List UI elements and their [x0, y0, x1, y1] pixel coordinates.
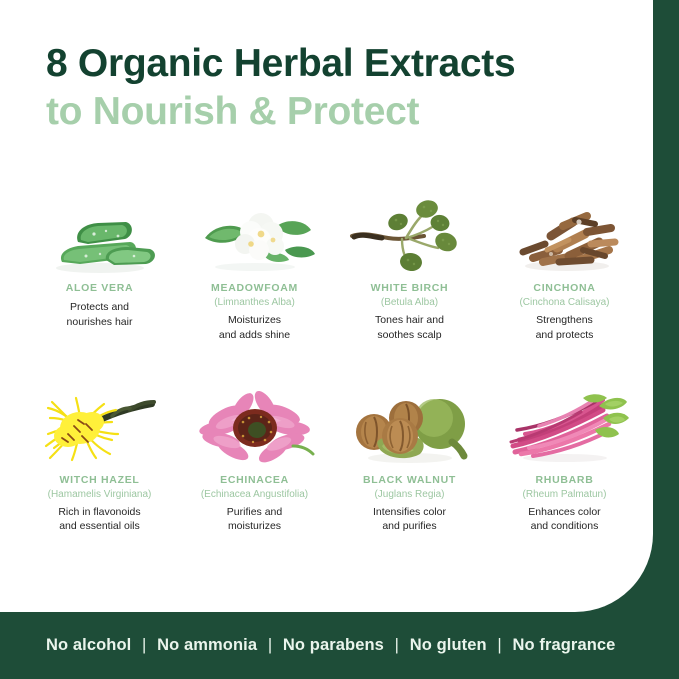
- extract-card-cinchona: CINCHONA (Cinchona Calisaya) Strengthens…: [487, 192, 642, 342]
- rhubarb-image: [499, 384, 631, 468]
- extract-name: MEADOWFOAM: [211, 282, 298, 295]
- aloe-vera-image: [34, 192, 166, 276]
- extract-latin-name: (Betula Alba): [381, 296, 438, 309]
- extract-name: CINCHONA: [533, 282, 595, 295]
- claim-no-fragrance: No fragrance: [512, 636, 615, 654]
- white-birch-image: [344, 192, 476, 276]
- extract-description: Rich in flavonoids and essential oils: [58, 505, 140, 533]
- extract-description: Enhances color and conditions: [528, 505, 600, 533]
- cinchona-image: [499, 192, 631, 276]
- extract-description: Protects and nourishes hair: [67, 300, 133, 328]
- extract-latin-name: (Limnanthes Alba): [214, 296, 295, 309]
- extract-description: Purifies and moisturizes: [227, 505, 282, 533]
- extract-name: WHITE BIRCH: [371, 282, 449, 295]
- claims-list: No alcohol | No ammonia | No parabens | …: [46, 636, 615, 655]
- extract-card-meadowfoam: MEADOWFOAM (Limnanthes Alba) Moisturizes…: [177, 192, 332, 342]
- claim-no-alcohol: No alcohol: [46, 636, 131, 654]
- extract-latin-name: (Echinacea Angustifolia): [201, 488, 308, 501]
- black-walnut-image: [344, 384, 476, 468]
- extract-name: RHUBARB: [536, 474, 594, 487]
- claim-separator: |: [491, 636, 507, 654]
- extract-description: Moisturizes and adds shine: [219, 313, 290, 341]
- extract-latin-name: (Rheum Palmatun): [523, 488, 607, 501]
- claim-no-ammonia: No ammonia: [157, 636, 257, 654]
- title-line-2: to Nourish & Protect: [46, 92, 626, 132]
- extract-card-aloe-vera: ALOE VERA Protects and nourishes hair: [22, 192, 177, 342]
- meadowfoam-image: [189, 192, 321, 276]
- extract-card-rhubarb: RHUBARB (Rheum Palmatun) Enhances color …: [487, 384, 642, 534]
- extract-name: ALOE VERA: [66, 282, 134, 295]
- herbal-extracts-infographic: 8 Organic Herbal Extracts to Nourish & P…: [0, 0, 679, 679]
- claim-no-parabens: No parabens: [283, 636, 384, 654]
- witch-hazel-image: [34, 384, 166, 468]
- claim-separator: |: [389, 636, 405, 654]
- page-title: 8 Organic Herbal Extracts to Nourish & P…: [46, 44, 626, 132]
- echinacea-image: [189, 384, 321, 468]
- extract-description: Tones hair and soothes scalp: [375, 313, 444, 341]
- extract-latin-name: (Juglans Regia): [374, 488, 444, 501]
- extract-card-witch-hazel: WITCH HAZEL (Hamamelis Virginiana) Rich …: [22, 384, 177, 534]
- extract-latin-name: (Cinchona Calisaya): [519, 296, 609, 309]
- extract-description: Strengthens and protects: [536, 313, 594, 341]
- extract-name: BLACK WALNUT: [363, 474, 456, 487]
- claims-footer: No alcohol | No ammonia | No parabens | …: [0, 612, 679, 679]
- extract-card-echinacea: ECHINACEA (Echinacea Angustifolia) Purif…: [177, 384, 332, 534]
- claim-separator: |: [136, 636, 152, 654]
- title-line-1: 8 Organic Herbal Extracts: [46, 44, 626, 84]
- extract-card-black-walnut: BLACK WALNUT (Juglans Regia) Intensifies…: [332, 384, 487, 534]
- extract-name: ECHINACEA: [220, 474, 289, 487]
- extracts-grid: ALOE VERA Protects and nourishes hair: [22, 192, 642, 534]
- extract-latin-name: (Hamamelis Virginiana): [48, 488, 152, 501]
- extract-description: Intensifies color and purifies: [373, 505, 446, 533]
- claim-separator: |: [262, 636, 278, 654]
- extract-name: WITCH HAZEL: [59, 474, 139, 487]
- extract-card-white-birch: WHITE BIRCH (Betula Alba) Tones hair and…: [332, 192, 487, 342]
- claim-no-gluten: No gluten: [410, 636, 487, 654]
